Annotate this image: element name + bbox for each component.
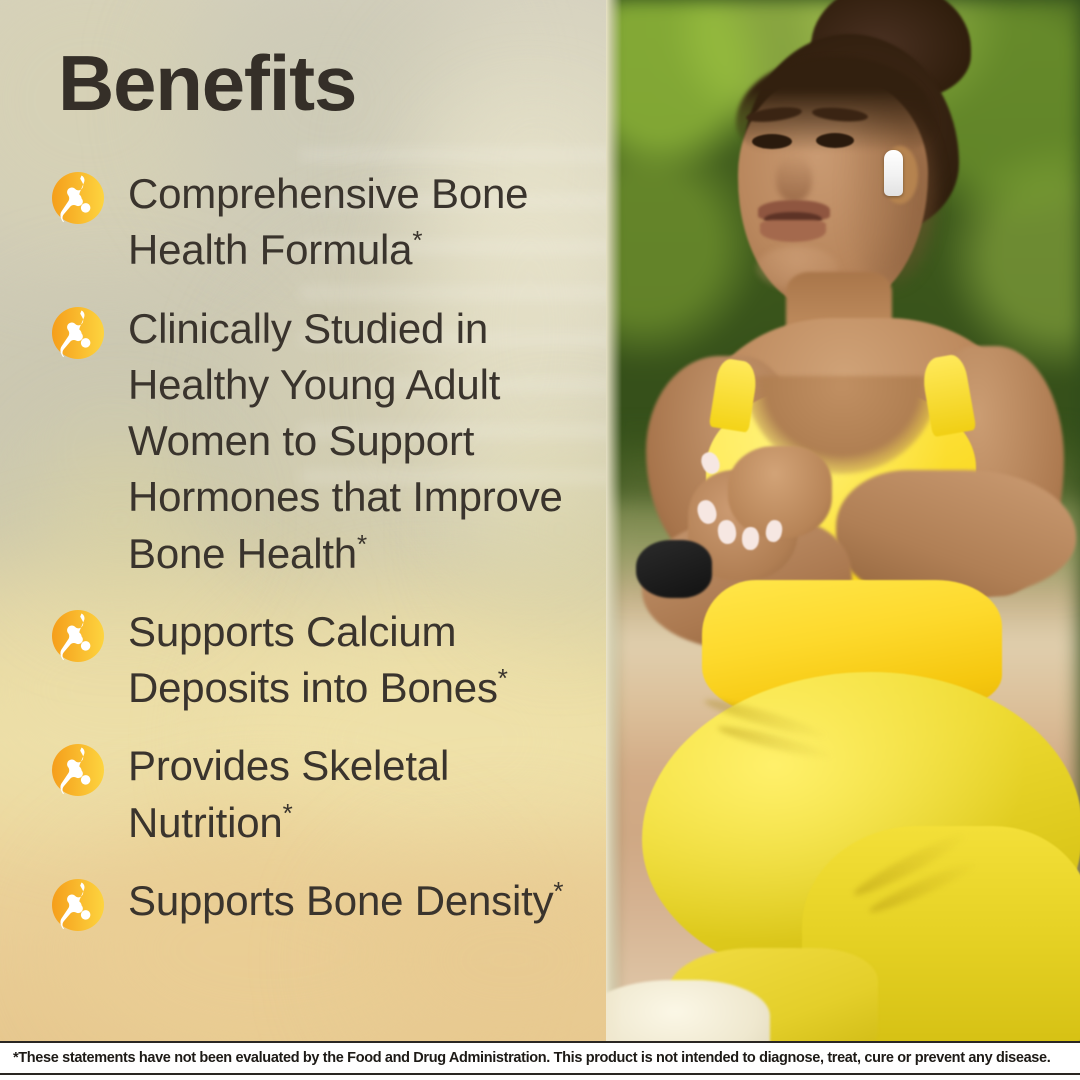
lower-lip: [760, 220, 826, 242]
bone-joint-icon: [52, 879, 104, 931]
list-item: Supports Bone Density*: [52, 873, 592, 931]
bone-joint-icon: [52, 744, 104, 796]
infographic-canvas: Benefits Comprehensive Bone Health Fo: [0, 0, 1080, 1080]
footnote-marker: *: [283, 798, 293, 828]
eye-right: [816, 133, 854, 148]
fitness-watch: [636, 540, 712, 598]
nose: [776, 156, 812, 202]
bottom-strip: [0, 1075, 1080, 1080]
page-title: Benefits: [58, 44, 356, 122]
fingernail: [742, 527, 760, 551]
background-blur-band: [300, 150, 606, 160]
benefits-list: Comprehensive Bone Health Formula* Clini…: [52, 166, 592, 953]
footnote-marker: *: [412, 225, 422, 255]
footnote-marker: *: [357, 529, 367, 559]
disclaimer-bar: *These statements have not been evaluate…: [0, 1041, 1080, 1075]
list-item: Comprehensive Bone Health Formula*: [52, 166, 592, 279]
footnote-marker: *: [498, 663, 508, 693]
forearm-right: [836, 470, 1076, 598]
bone-joint-icon: [52, 610, 104, 662]
bone-joint-icon: [52, 172, 104, 224]
list-item: Supports Calcium Deposits into Bones*: [52, 604, 592, 717]
list-item: Clinically Studied in Healthy Young Adul…: [52, 301, 592, 582]
bone-joint-icon: [52, 307, 104, 359]
eye-left: [752, 134, 792, 149]
list-item-label: Supports Bone Density*: [128, 873, 563, 929]
list-item-label: Supports Calcium Deposits into Bones*: [128, 604, 592, 717]
list-item-label: Comprehensive Bone Health Formula*: [128, 166, 592, 279]
photo-left-edge-fade: [606, 0, 622, 1045]
list-item: Provides Skeletal Nutrition*: [52, 738, 592, 851]
list-item-label: Clinically Studied in Healthy Young Adul…: [128, 301, 592, 582]
earbud-icon: [884, 150, 903, 196]
footnote-marker: *: [553, 876, 563, 906]
disclaimer-text: *These statements have not been evaluate…: [0, 1050, 1050, 1066]
list-item-label: Provides Skeletal Nutrition*: [128, 738, 592, 851]
athletic-shoe: [606, 980, 770, 1045]
athlete-photo: [606, 0, 1080, 1045]
